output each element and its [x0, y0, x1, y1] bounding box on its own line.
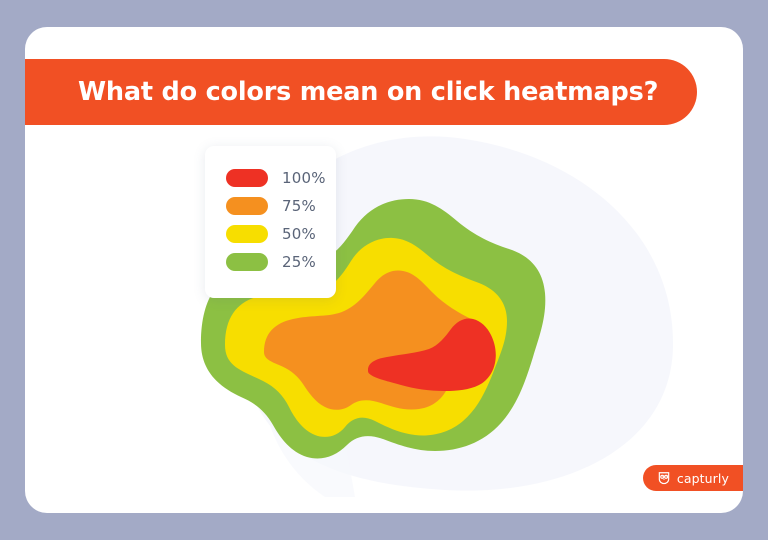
page-title: What do colors mean on click heatmaps? [78, 77, 658, 107]
owl-icon [657, 471, 671, 485]
title-banner: What do colors mean on click heatmaps? [25, 59, 697, 125]
legend-label-75: 75% [282, 197, 316, 215]
legend-swatch-100 [226, 169, 268, 187]
legend-label-25: 25% [282, 253, 316, 271]
legend-item-50[interactable]: 50% [226, 224, 326, 243]
legend-panel: 100% 75% 50% 25% [205, 146, 336, 298]
legend-item-25[interactable]: 25% [226, 252, 326, 271]
legend-swatch-25 [226, 253, 268, 271]
legend-item-100[interactable]: 100% [226, 168, 326, 187]
slide-card: 100% 75% 50% 25% What do colors mean on … [25, 27, 743, 513]
legend-swatch-75 [226, 197, 268, 215]
brand-name: capturly [677, 471, 729, 486]
legend-item-75[interactable]: 75% [226, 196, 326, 215]
legend-swatch-50 [226, 225, 268, 243]
legend-label-50: 50% [282, 225, 316, 243]
legend-label-100: 100% [282, 169, 326, 187]
brand-badge[interactable]: capturly [643, 465, 743, 491]
screenshot-stage: 100% 75% 50% 25% What do colors mean on … [0, 0, 768, 540]
legend-list: 100% 75% 50% 25% [226, 168, 326, 271]
